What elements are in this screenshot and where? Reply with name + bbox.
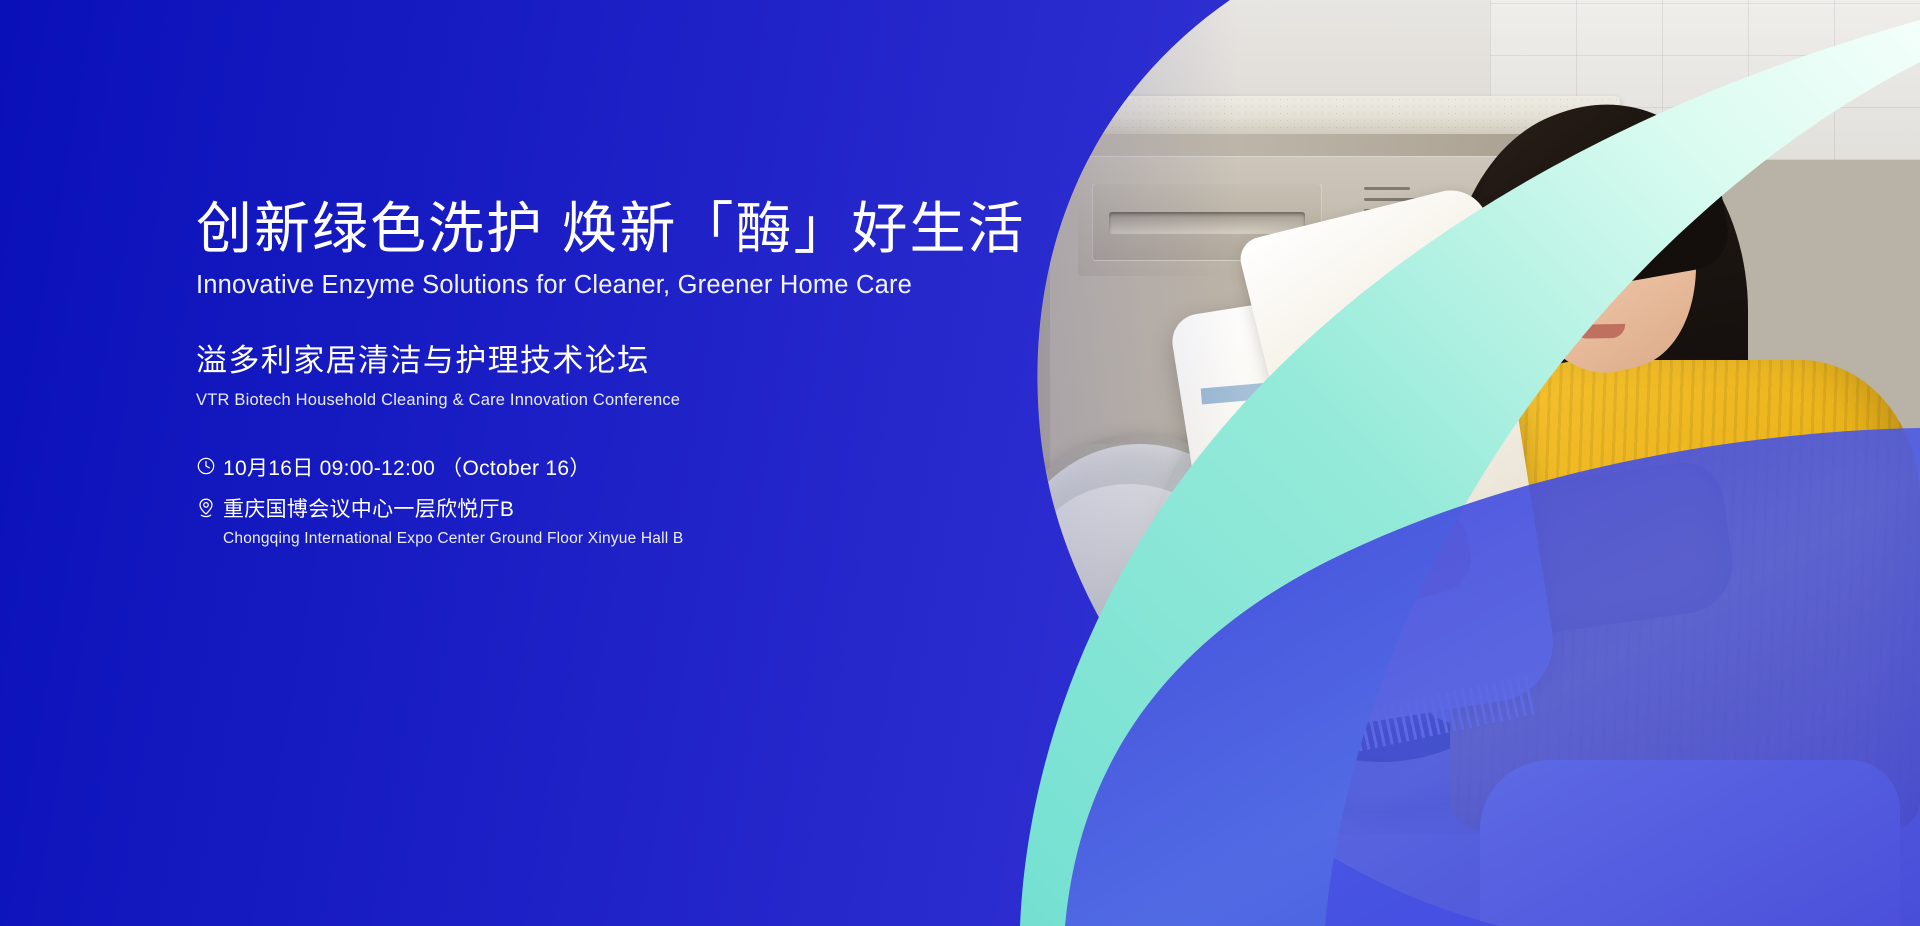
event-datetime: 10月16日 09:00-12:00 （October 16） [223, 455, 591, 483]
event-venue-en: Chongqing International Expo Center Grou… [223, 527, 683, 550]
page-title: 创新绿色洗护 焕新「酶」好生活 [196, 196, 1116, 262]
clock-icon [196, 456, 223, 476]
photo-edge-shade [1000, 0, 1920, 926]
event-banner: 创新绿色洗护 焕新「酶」好生活 Innovative Enzyme Soluti… [0, 0, 1920, 926]
location-pin-icon [196, 497, 223, 519]
hero-photo [1000, 0, 1920, 926]
page-title-en: Innovative Enzyme Solutions for Cleaner,… [196, 270, 1116, 302]
event-venue-row: 重庆国博会议中心一层欣悦厅B Chongqing International E… [196, 496, 1116, 550]
event-meta: 10月16日 09:00-12:00 （October 16） 重庆国博会议中心… [196, 455, 1116, 550]
event-venue: 重庆国博会议中心一层欣悦厅B Chongqing International E… [223, 496, 683, 550]
conference-name-cn: 溢多利家居清洁与护理技术论坛 [196, 342, 1116, 381]
banner-content: 创新绿色洗护 焕新「酶」好生活 Innovative Enzyme Soluti… [196, 196, 1116, 563]
conference-name-en: VTR Biotech Household Cleaning & Care In… [196, 390, 1116, 411]
event-venue-cn: 重庆国博会议中心一层欣悦厅B [223, 498, 514, 521]
event-datetime-row: 10月16日 09:00-12:00 （October 16） [196, 455, 1116, 483]
